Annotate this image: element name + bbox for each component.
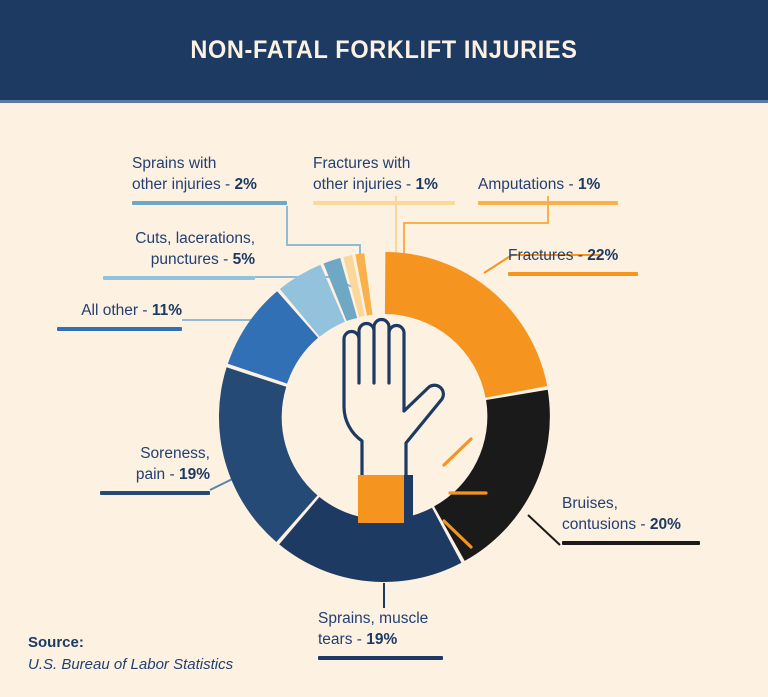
callout-rule-soreness-pain: [100, 491, 210, 495]
callout-value: 19%: [366, 631, 397, 648]
callout-label-text: Fractures -: [508, 247, 587, 264]
source-label: Source:: [28, 632, 233, 654]
callout-value: 1%: [416, 176, 438, 193]
callout-line-2: other injuries - 1%: [313, 174, 455, 195]
callout-rule-fractures: [508, 272, 638, 276]
callout-fractures-with-other-injuries[interactable]: Fractures with other injuries - 1%: [313, 153, 455, 205]
callout-label-text: tears -: [318, 631, 366, 648]
donut-slice-soreness[interactable]: [219, 367, 318, 542]
callout-label-text: punctures -: [151, 251, 233, 268]
callout-rule-bruises-contusions: [562, 541, 700, 545]
callout-rule-cuts-lacerations-punctures: [103, 276, 255, 280]
callout-value: 20%: [650, 516, 681, 533]
hand-outline: [344, 320, 443, 478]
callout-rule-amputations: [478, 201, 618, 205]
callout-label-text: other injuries -: [132, 176, 235, 193]
callout-cuts-lacerations-punctures[interactable]: Cuts, lacerations, punctures - 5%: [30, 228, 255, 280]
callout-line-2: Fractures - 22%: [508, 245, 638, 266]
callout-rule-sprains-with-other-injuries: [132, 201, 287, 205]
hand-sleeve-shadow: [404, 475, 413, 523]
source-value: U.S. Bureau of Labor Statistics: [28, 654, 233, 676]
callout-label-text: other injuries -: [313, 176, 416, 193]
callout-value: 2%: [235, 176, 257, 193]
callout-sprains-muscle-tears[interactable]: Sprains, muscle tears - 19%: [318, 608, 443, 660]
callout-line-2: All other - 11%: [20, 300, 182, 321]
infographic-root: NON-FATAL FORKLIFT INJURIES: [0, 0, 768, 697]
callout-value: 11%: [152, 302, 182, 319]
leader-line-bruises: [528, 515, 560, 545]
callout-rule-all-other: [57, 327, 182, 331]
callout-label-text: Amputations -: [478, 176, 578, 193]
callout-value: 22%: [587, 247, 618, 264]
donut-slice-bruises[interactable]: [434, 390, 550, 561]
callout-all-other[interactable]: All other - 11%: [20, 300, 182, 331]
callout-line-1: Soreness,: [30, 443, 210, 464]
chart-stage: Sprains with other injuries - 2% Cuts, l…: [0, 103, 768, 697]
hand-sleeve: [358, 475, 408, 523]
callout-line-1: Fractures with: [313, 153, 455, 174]
callout-label-text: All other -: [81, 302, 152, 319]
callout-label-text: contusions -: [562, 516, 650, 533]
callout-value: 1%: [578, 176, 600, 193]
page-title: NON-FATAL FORKLIFT INJURIES: [190, 36, 577, 65]
callout-soreness-pain[interactable]: Soreness, pain - 19%: [30, 443, 210, 495]
callout-line-2: tears - 19%: [318, 629, 443, 650]
callout-value: 19%: [179, 466, 210, 483]
callout-line-1: Bruises,: [562, 493, 700, 514]
callout-line-1: Cuts, lacerations,: [30, 228, 255, 249]
callout-rule-sprains-muscle-tears: [318, 656, 443, 660]
callout-line-2: Amputations - 1%: [478, 174, 618, 195]
callout-line-1: Sprains, muscle: [318, 608, 443, 629]
callout-line-2: punctures - 5%: [30, 249, 255, 270]
callout-bruises-contusions[interactable]: Bruises, contusions - 20%: [562, 493, 700, 545]
callout-line-1: Sprains with: [132, 153, 287, 174]
callout-line-2: contusions - 20%: [562, 514, 700, 535]
callout-line-2: pain - 19%: [30, 464, 210, 485]
pain-ray-upper: [444, 439, 471, 465]
callout-value: 5%: [233, 251, 255, 268]
callout-line-2: other injuries - 2%: [132, 174, 287, 195]
callout-sprains-with-other-injuries[interactable]: Sprains with other injuries - 2%: [132, 153, 287, 205]
callout-fractures[interactable]: Fractures - 22%: [508, 245, 638, 276]
callout-rule-fractures-with-other-injuries: [313, 201, 455, 205]
callout-amputations[interactable]: Amputations - 1%: [478, 174, 618, 205]
callout-label-text: pain -: [136, 466, 179, 483]
source-block: Source: U.S. Bureau of Labor Statistics: [28, 632, 233, 676]
header-bar: NON-FATAL FORKLIFT INJURIES: [0, 0, 768, 100]
